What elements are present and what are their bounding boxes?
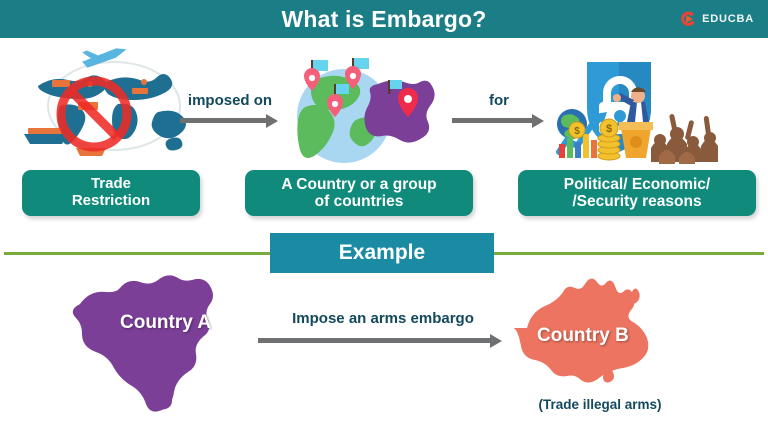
flow-step-2-line2: of countries bbox=[281, 193, 436, 210]
svg-text:$: $ bbox=[574, 126, 580, 137]
flow-step-3-pill: Political/ Economic/ /Security reasons bbox=[518, 170, 756, 216]
country-b-note: (Trade illegal arms) bbox=[510, 397, 690, 412]
flow-step-1-line2: Restriction bbox=[72, 193, 150, 210]
flow-connector-1-label: imposed on bbox=[188, 92, 272, 109]
flow-step-1 bbox=[22, 52, 200, 170]
brand-logo: EDUCBA bbox=[679, 10, 754, 28]
country-a bbox=[62, 272, 272, 412]
page-header: What is Embargo? EDUCBA bbox=[0, 0, 768, 38]
country-a-map-icon-svg bbox=[62, 272, 272, 412]
example-section-badge: Example bbox=[270, 233, 494, 273]
country-a-label: Country A bbox=[120, 312, 211, 334]
flow-connector-2-label: for bbox=[489, 92, 509, 109]
brand-name: EDUCBA bbox=[702, 13, 754, 25]
example-section-label: Example bbox=[339, 241, 425, 265]
shield-lock-politics-economy-icon: $ $ bbox=[555, 52, 730, 170]
svg-text:$: $ bbox=[606, 123, 612, 135]
flow-step-2 bbox=[282, 54, 452, 166]
page-title: What is Embargo? bbox=[281, 8, 486, 31]
country-b-label: Country B bbox=[537, 325, 629, 347]
flow-step-2-pill: A Country or a group of countries bbox=[245, 170, 473, 216]
flow-step-3: $ $ bbox=[555, 52, 730, 170]
world-trade-prohibited-icon-svg bbox=[22, 52, 200, 168]
flow-step-1-line1: Trade bbox=[72, 176, 150, 193]
shield-lock-politics-economy-icon-svg: $ $ bbox=[555, 52, 730, 170]
globe-with-location-pins-icon bbox=[282, 54, 452, 166]
educba-logo-icon-svg bbox=[679, 10, 697, 28]
flow-step-3-line1: Political/ Economic/ bbox=[564, 176, 710, 193]
flow-step-2-line1: A Country or a group bbox=[281, 176, 436, 193]
country-a-map-icon bbox=[62, 272, 272, 412]
educba-logo-icon bbox=[679, 10, 697, 28]
flow-step-3-line2: /Security reasons bbox=[564, 193, 710, 210]
flow-step-1-pill: Trade Restriction bbox=[22, 170, 200, 216]
example-connector-label: Impose an arms embargo bbox=[292, 310, 474, 327]
globe-with-location-pins-icon-svg bbox=[282, 54, 452, 166]
world-trade-prohibited-icon bbox=[22, 52, 200, 168]
